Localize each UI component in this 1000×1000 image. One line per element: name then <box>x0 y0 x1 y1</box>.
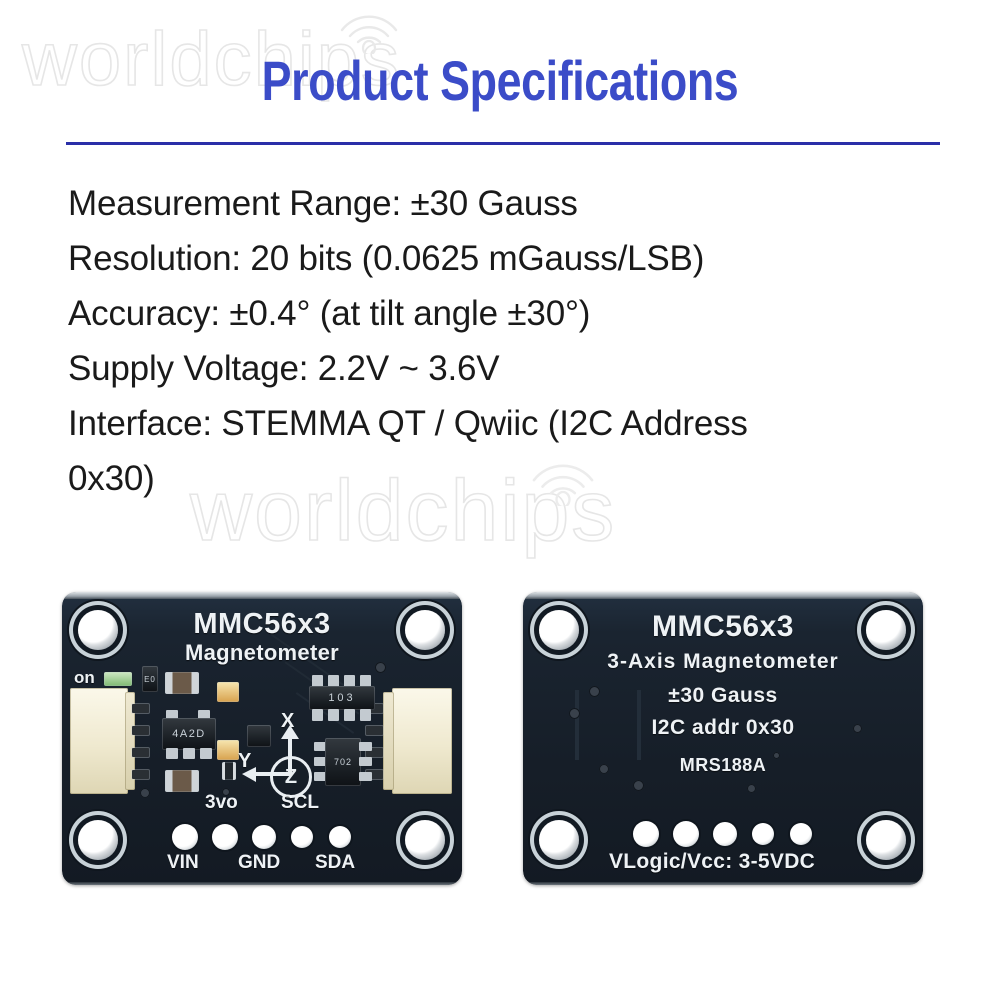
smd-led <box>217 682 239 702</box>
pcb-via <box>375 662 386 673</box>
ic-leg <box>328 709 339 721</box>
breakout-pad-3vo[interactable] <box>212 824 238 850</box>
breakout-pad-gnd[interactable] <box>252 825 276 849</box>
page-title: Product Specifications <box>100 52 900 110</box>
mounting-hole <box>405 820 445 860</box>
spec-list: Measurement Range: ±30 Gauss Resolution:… <box>68 176 948 506</box>
pcb-top-edge <box>523 592 923 599</box>
pcb-via <box>633 780 644 791</box>
mounting-hole <box>405 610 445 650</box>
smd-resistor <box>222 762 236 780</box>
breakout-pad-scl[interactable] <box>291 826 313 848</box>
pcb-trace <box>637 690 641 760</box>
silk-axis-line: 3-Axis Magnetometer <box>607 650 838 674</box>
silk-label-on: on <box>74 668 95 688</box>
silk-part-number: MRS188A <box>680 755 767 776</box>
spec-line-resolution: Resolution: 20 bits (0.0625 mGauss/LSB) <box>68 231 948 286</box>
connector-pin <box>132 770 149 779</box>
smd-capacitor <box>165 672 199 694</box>
connector-pin <box>366 726 383 735</box>
power-led <box>104 672 132 686</box>
silk-range-line: ±30 Gauss <box>668 684 777 708</box>
magnetometer-sensor-chip <box>247 725 271 747</box>
pcb-trace <box>575 690 579 760</box>
pad-label-gnd: GND <box>238 852 280 874</box>
ic-leg <box>200 748 212 759</box>
pcb-via <box>853 724 862 733</box>
chip-diode: E0 <box>142 666 158 692</box>
pcb-back-image: MMC56x3 3-Axis Magnetometer ±30 Gauss I2… <box>523 592 923 885</box>
spec-line-accuracy: Accuracy: ±0.4° (at tilt angle ±30°) <box>68 286 948 341</box>
pad-label-vin: VIN <box>167 852 199 874</box>
level-shifter-chip: 702 <box>325 738 361 786</box>
ic-leg <box>166 748 178 759</box>
pcb-front-image: MMC56x3 Magnetometer on E0 4A2D <box>62 592 462 885</box>
breakout-pad-back-3[interactable] <box>713 822 737 846</box>
wifi-signal-icon <box>332 2 406 54</box>
breakout-pad-back-5[interactable] <box>790 823 812 845</box>
mounting-hole <box>539 610 579 650</box>
ic-leg <box>359 772 372 781</box>
pcb-via <box>569 708 580 719</box>
spec-line-interface: Interface: STEMMA QT / Qwiic (I2C Addres… <box>68 396 948 451</box>
pcb-bottom-edge <box>62 882 462 885</box>
mounting-hole <box>78 820 118 860</box>
smd-led <box>217 740 239 760</box>
resistor-array-chip: 103 <box>309 686 375 710</box>
silk-title-back: MMC56x3 <box>652 610 794 644</box>
spec-line-supply-voltage: Supply Voltage: 2.2V ~ 3.6V <box>68 341 948 396</box>
product-specifications-page: worldchips worldchips Product Specificat… <box>0 0 1000 1000</box>
axis-arrow-x-head <box>281 725 299 739</box>
mounting-hole <box>78 610 118 650</box>
voltage-regulator-chip: 4A2D <box>162 718 216 750</box>
connector-pin <box>132 748 149 757</box>
silk-footer-vlogic: VLogic/Vcc: 3-5VDC <box>609 850 815 874</box>
pad-label-sda: SDA <box>315 852 355 874</box>
pcb-bottom-edge <box>523 882 923 885</box>
connector-pin <box>132 704 149 713</box>
pcb-via <box>589 686 600 697</box>
silk-i2c-addr-line: I2C addr 0x30 <box>651 716 794 740</box>
pcb-via <box>773 752 780 759</box>
pad-label-scl: SCL <box>281 792 319 814</box>
ic-leg <box>312 709 323 721</box>
stemma-qt-connector-right[interactable] <box>392 688 452 794</box>
silk-title-front: MMC56x3 <box>193 608 330 641</box>
silk-subtitle-front: Magnetometer <box>185 640 339 666</box>
mounting-hole <box>866 820 906 860</box>
ic-leg <box>183 748 195 759</box>
axis-arrow-y-head <box>242 767 256 782</box>
pcb-via <box>747 784 756 793</box>
stemma-qt-connector-right-shroud <box>383 692 394 790</box>
breakout-pad-back-4[interactable] <box>752 823 774 845</box>
ic-leg <box>360 709 371 721</box>
stemma-qt-connector-left[interactable] <box>70 688 128 794</box>
ic-leg <box>344 709 355 721</box>
connector-pin <box>132 726 149 735</box>
ic-leg <box>359 742 372 751</box>
breakout-pad-back-1[interactable] <box>633 821 659 847</box>
spec-line-interface-cont: 0x30) <box>68 451 948 506</box>
pad-label-3vo: 3vo <box>205 792 238 814</box>
breakout-pad-sda[interactable] <box>329 826 351 848</box>
pcb-via <box>140 788 150 798</box>
breakout-pad-back-2[interactable] <box>673 821 699 847</box>
smd-capacitor <box>165 770 199 792</box>
mounting-hole <box>866 610 906 650</box>
ic-leg <box>359 757 372 766</box>
pcb-top-edge <box>62 592 462 599</box>
breakout-pad-vin[interactable] <box>172 824 198 850</box>
spec-line-measurement-range: Measurement Range: ±30 Gauss <box>68 176 948 231</box>
pcb-via <box>599 764 609 774</box>
mounting-hole <box>539 820 579 860</box>
title-divider <box>66 142 940 145</box>
